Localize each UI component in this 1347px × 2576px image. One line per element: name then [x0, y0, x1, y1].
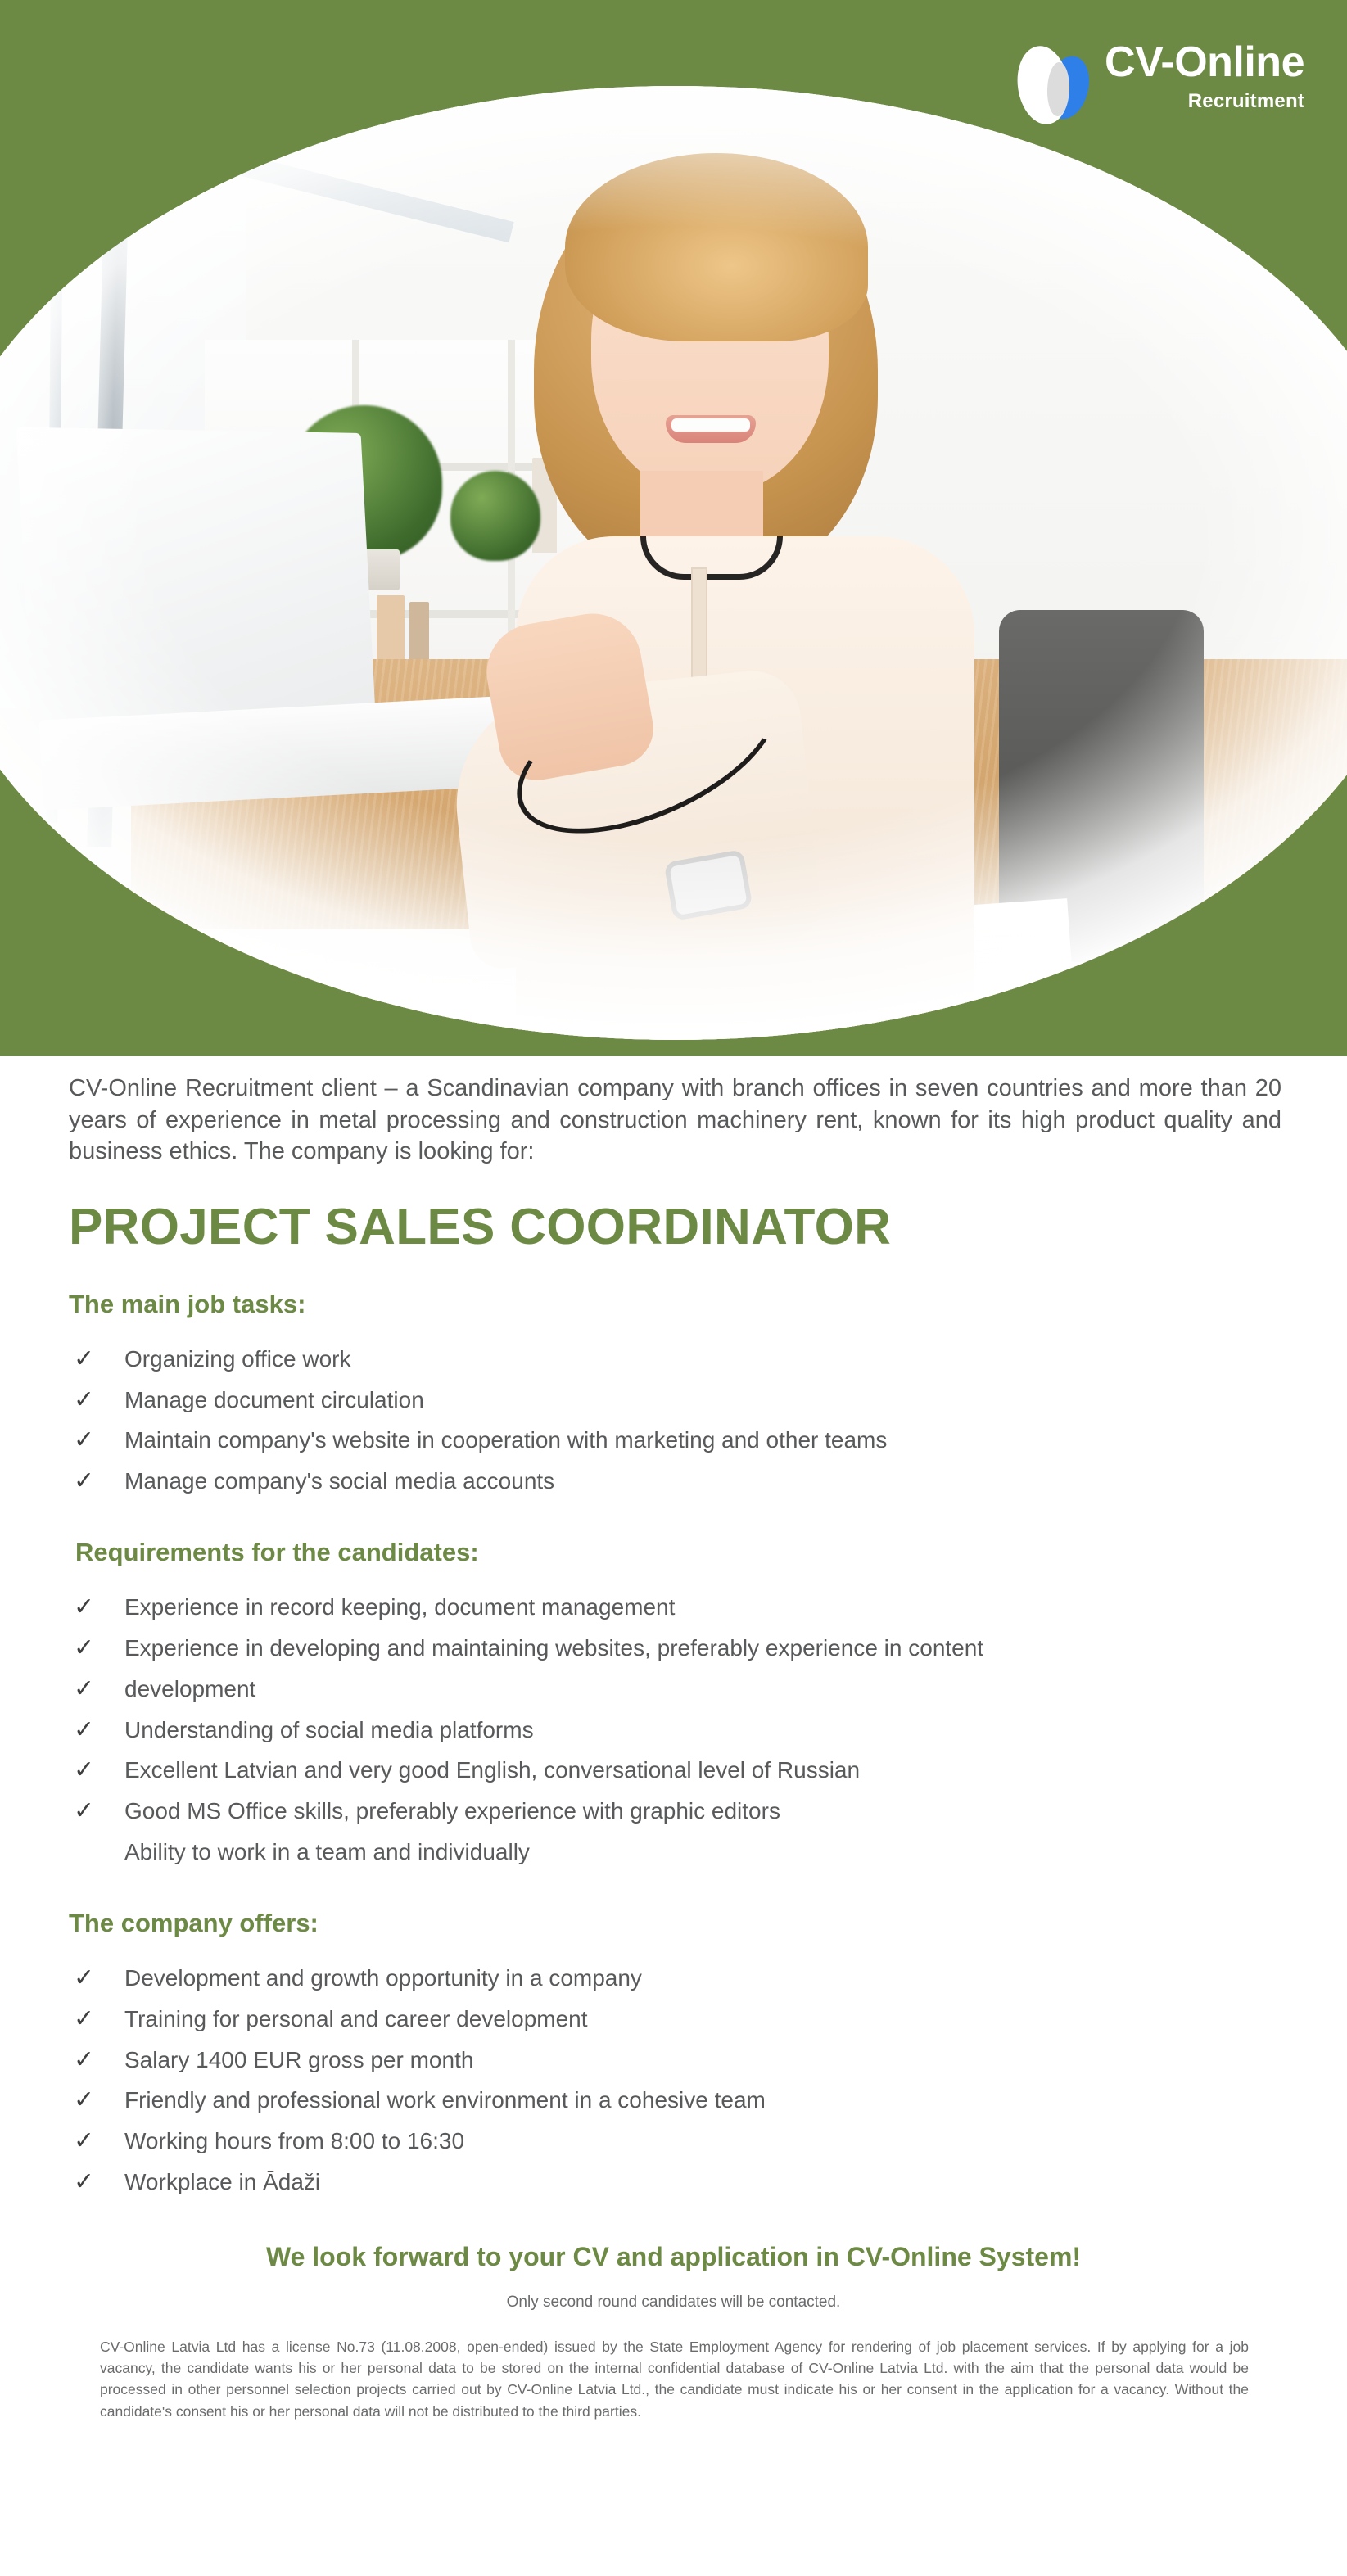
- list-item: ✓Development and growth opportunity in a…: [69, 1958, 1347, 1999]
- list-item: ✓Excellent Latvian and very good English…: [69, 1750, 1347, 1791]
- check-icon: ✓: [74, 1789, 94, 1833]
- list-company-offers: ✓Development and growth opportunity in a…: [0, 1958, 1347, 2203]
- intro-paragraph: CV-Online Recruitment client – a Scandin…: [69, 1073, 1281, 1168]
- logo-subtitle: Recruitment: [1105, 90, 1304, 113]
- list-item-label: Manage company's social media accounts: [124, 1468, 554, 1494]
- list-item: ✓Training for personal and career develo…: [69, 1999, 1347, 2040]
- list-item: ✓Good MS Office skills, preferably exper…: [69, 1791, 1347, 1832]
- list-item-label: Manage document circulation: [124, 1387, 424, 1412]
- check-icon: ✓: [74, 2160, 94, 2203]
- list-item: ✓Understanding of social media platforms: [69, 1710, 1347, 1751]
- list-item-label: Excellent Latvian and very good English,…: [124, 1757, 860, 1783]
- cv-online-logo: CV-Online Recruitment: [1015, 38, 1304, 128]
- check-icon: ✓: [74, 1748, 94, 1792]
- closing-call-to-action: We look forward to your CV and applicati…: [0, 2242, 1347, 2272]
- list-item: ✓Experience in record keeping, document …: [69, 1587, 1347, 1628]
- check-icon: ✓: [74, 1708, 94, 1751]
- list-item-label: Maintain company's website in cooperatio…: [124, 1427, 887, 1453]
- check-icon: ✓: [74, 1956, 94, 2000]
- list-item: ✓Maintain company's website in cooperati…: [69, 1420, 1347, 1461]
- sections-container: The main job tasks: ✓Organizing office w…: [0, 1290, 1347, 2203]
- laptop-screen: [16, 427, 377, 744]
- teeth: [671, 418, 750, 432]
- list-item: ✓Manage company's social media accounts: [69, 1461, 1347, 1502]
- check-icon: ✓: [74, 1667, 94, 1711]
- hero-banner: CV-Online Recruitment: [0, 0, 1347, 1056]
- logo-title: CV-Online: [1105, 41, 1304, 84]
- list-item: ✓Workplace in Ādaži: [69, 2162, 1347, 2203]
- person-photo-subject: [467, 111, 1040, 1036]
- job-advertisement-page: CV-Online Recruitment CV-Online Recruitm…: [0, 0, 1347, 2576]
- list-main-job-tasks: ✓Organizing office work ✓Manage document…: [0, 1339, 1347, 1502]
- advertisement-body: CV-Online Recruitment client – a Scandin…: [0, 1056, 1347, 2422]
- list-item-label: Good MS Office skills, preferably experi…: [124, 1798, 780, 1824]
- list-item-label: Ability to work in a team and individual…: [124, 1839, 530, 1864]
- contact-note: Only second round candidates will be con…: [0, 2294, 1347, 2312]
- check-icon: ✓: [74, 2078, 94, 2122]
- list-item: ✓Salary 1400 EUR gross per month: [69, 2040, 1347, 2081]
- list-item-label: Friendly and professional work environme…: [124, 2087, 766, 2113]
- check-icon: ✓: [74, 1378, 94, 1421]
- list-item-label: Understanding of social media platforms: [124, 1717, 534, 1742]
- hair-front: [565, 153, 868, 341]
- list-item-label: Salary 1400 EUR gross per month: [124, 2047, 473, 2072]
- list-item-label: development: [124, 1676, 255, 1702]
- check-icon: ✓: [74, 1418, 94, 1462]
- legal-disclaimer: CV-Online Latvia Ltd has a license No.73…: [100, 2336, 1249, 2422]
- list-item: ✓development: [69, 1669, 1347, 1710]
- list-item: ✓Organizing office work: [69, 1339, 1347, 1380]
- section-heading-main-job-tasks: The main job tasks:: [69, 1290, 1347, 1319]
- list-item: ✓Manage document circulation: [69, 1380, 1347, 1421]
- page-title: PROJECT SALES COORDINATOR: [69, 1200, 1347, 1254]
- logo-mark-icon: [1015, 43, 1093, 128]
- check-icon: ✓: [74, 1626, 94, 1670]
- check-icon: ✓: [74, 1997, 94, 2040]
- section-heading-company-offers: The company offers:: [69, 1909, 1347, 1938]
- list-item-label: Experience in record keeping, document m…: [124, 1594, 675, 1620]
- list-item-label: Organizing office work: [124, 1346, 351, 1372]
- section-heading-requirements: Requirements for the candidates:: [75, 1538, 1347, 1567]
- list-item-label: Working hours from 8:00 to 16:30: [124, 2128, 464, 2153]
- collar: [640, 536, 783, 580]
- check-icon: ✓: [74, 1337, 94, 1381]
- list-requirements: ✓Experience in record keeping, document …: [0, 1587, 1347, 1873]
- check-icon: ✓: [74, 1585, 94, 1629]
- list-item: ✓Working hours from 8:00 to 16:30: [69, 2121, 1347, 2162]
- check-icon: ✓: [74, 2038, 94, 2081]
- list-item: ✓Experience in developing and maintainin…: [69, 1628, 1347, 1669]
- check-icon: ✓: [74, 1459, 94, 1503]
- list-item-label: Experience in developing and maintaining…: [124, 1635, 983, 1661]
- list-item-label: Training for personal and career develop…: [124, 2006, 588, 2031]
- list-item-label: Development and growth opportunity in a …: [124, 1965, 642, 1991]
- list-item-label: Workplace in Ādaži: [124, 2169, 320, 2194]
- hero-photo: [0, 86, 1347, 1040]
- check-icon: ✓: [74, 2119, 94, 2162]
- list-item: ✓Friendly and professional work environm…: [69, 2080, 1347, 2121]
- list-item: ✓Ability to work in a team and individua…: [69, 1832, 1347, 1873]
